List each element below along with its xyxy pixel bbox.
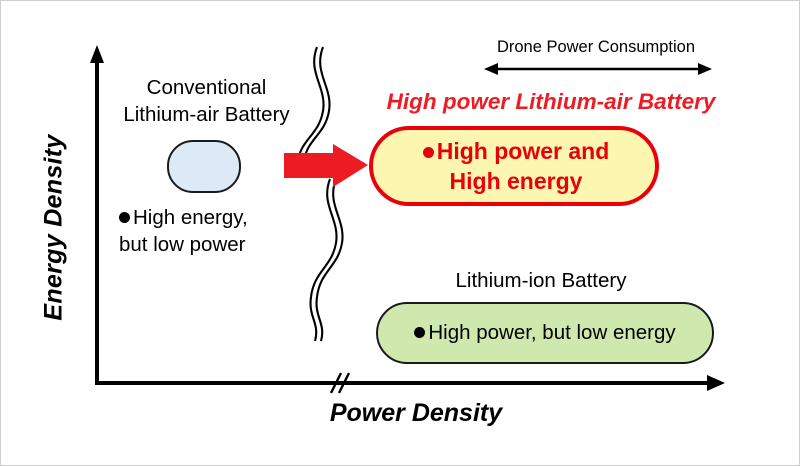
lithium-ion-battery-callout-text: High power, but low energy bbox=[414, 321, 675, 345]
conventional-battery-note-line1: High energy, bbox=[119, 204, 311, 231]
conventional-battery-title-line2: Lithium-air Battery bbox=[104, 101, 309, 128]
lithium-ion-battery-note-text: High power, but low energy bbox=[428, 321, 675, 344]
conventional-battery-oval bbox=[167, 140, 241, 193]
y-axis-label: Energy Density bbox=[40, 113, 69, 343]
high-power-battery-note-text1: High power and bbox=[437, 138, 610, 164]
bullet-dot-icon bbox=[119, 212, 130, 223]
x-axis bbox=[95, 375, 725, 391]
conventional-battery-title-line1: Conventional bbox=[104, 74, 309, 101]
lithium-ion-battery-callout: High power, but low energy bbox=[376, 302, 714, 364]
conventional-battery-note-line2: but low power bbox=[119, 231, 311, 258]
high-power-battery-callout: High power and High energy bbox=[369, 126, 659, 206]
high-power-battery-note-line1: High power and bbox=[423, 136, 610, 166]
drone-range-arrow-icon bbox=[484, 63, 712, 75]
high-power-battery-title: High power Lithium-air Battery bbox=[349, 89, 753, 115]
diagram-canvas: Energy Density Power Density Conventiona… bbox=[0, 0, 800, 466]
red-transition-arrow-icon bbox=[284, 144, 368, 187]
x-axis-label: Power Density bbox=[231, 399, 601, 428]
bullet-dot-icon bbox=[414, 327, 425, 338]
drone-power-consumption-label: Drone Power Consumption bbox=[471, 38, 721, 57]
lithium-ion-battery-title: Lithium-ion Battery bbox=[426, 269, 656, 293]
high-power-battery-note-line2: High energy bbox=[423, 166, 610, 196]
wavy-break-lower-icon bbox=[311, 179, 343, 341]
high-power-battery-callout-text: High power and High energy bbox=[419, 136, 610, 196]
conventional-battery-note: High energy, but low power bbox=[111, 204, 311, 258]
conventional-battery-title: Conventional Lithium-air Battery bbox=[104, 74, 309, 128]
conventional-battery-note-text1: High energy, bbox=[133, 206, 248, 229]
bullet-dot-red-icon bbox=[423, 147, 434, 158]
y-axis bbox=[90, 45, 104, 383]
